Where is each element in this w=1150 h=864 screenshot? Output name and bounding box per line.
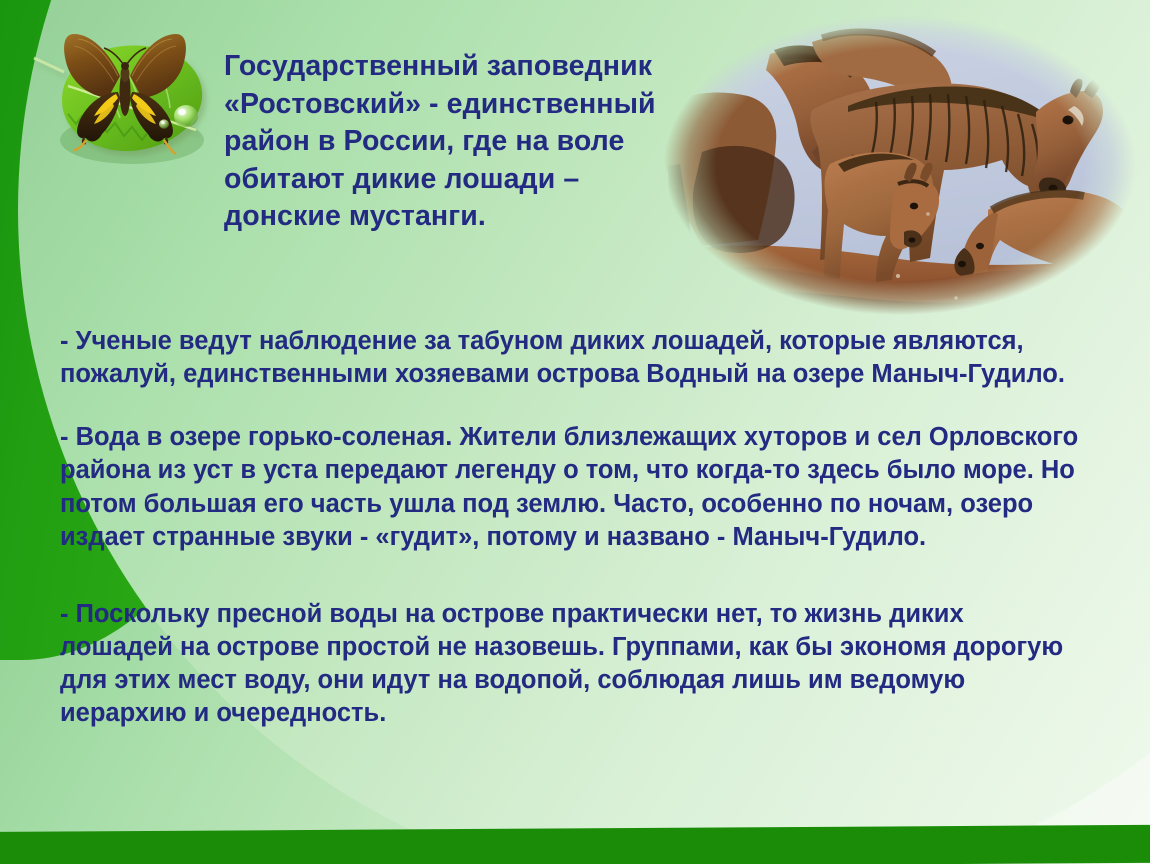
page-title: Государственный заповедник «Ростовский» … (224, 48, 694, 236)
title-line-5: донские мустанги. (224, 198, 694, 236)
body-text: - Ученые ведут наблюдение за табуном дик… (60, 325, 1080, 730)
photo-content (662, 14, 1138, 316)
title-line-1: Государственный заповедник (224, 48, 694, 86)
paragraph-scientists: - Ученые ведут наблюдение за табуном дик… (60, 325, 1080, 391)
butterfly-on-leaf-image (28, 22, 228, 172)
title-line-3: район в России, где на воле (224, 123, 694, 161)
bottom-accent-bar (0, 825, 1150, 864)
leaf-stem (34, 58, 64, 72)
title-line-2: «Ростовский» - единственный (224, 86, 694, 124)
paragraph-lake: - Вода в озере горько-соленая. Жители бл… (60, 421, 1080, 554)
title-line-4: обитают дикие лошади – (224, 161, 694, 199)
paragraph-freshwater: - Поскольку пресной воды на острове прак… (60, 598, 1080, 731)
wild-horses-oval-photo (662, 14, 1138, 316)
slide-canvas: Государственный заповедник «Ростовский» … (0, 0, 1150, 864)
